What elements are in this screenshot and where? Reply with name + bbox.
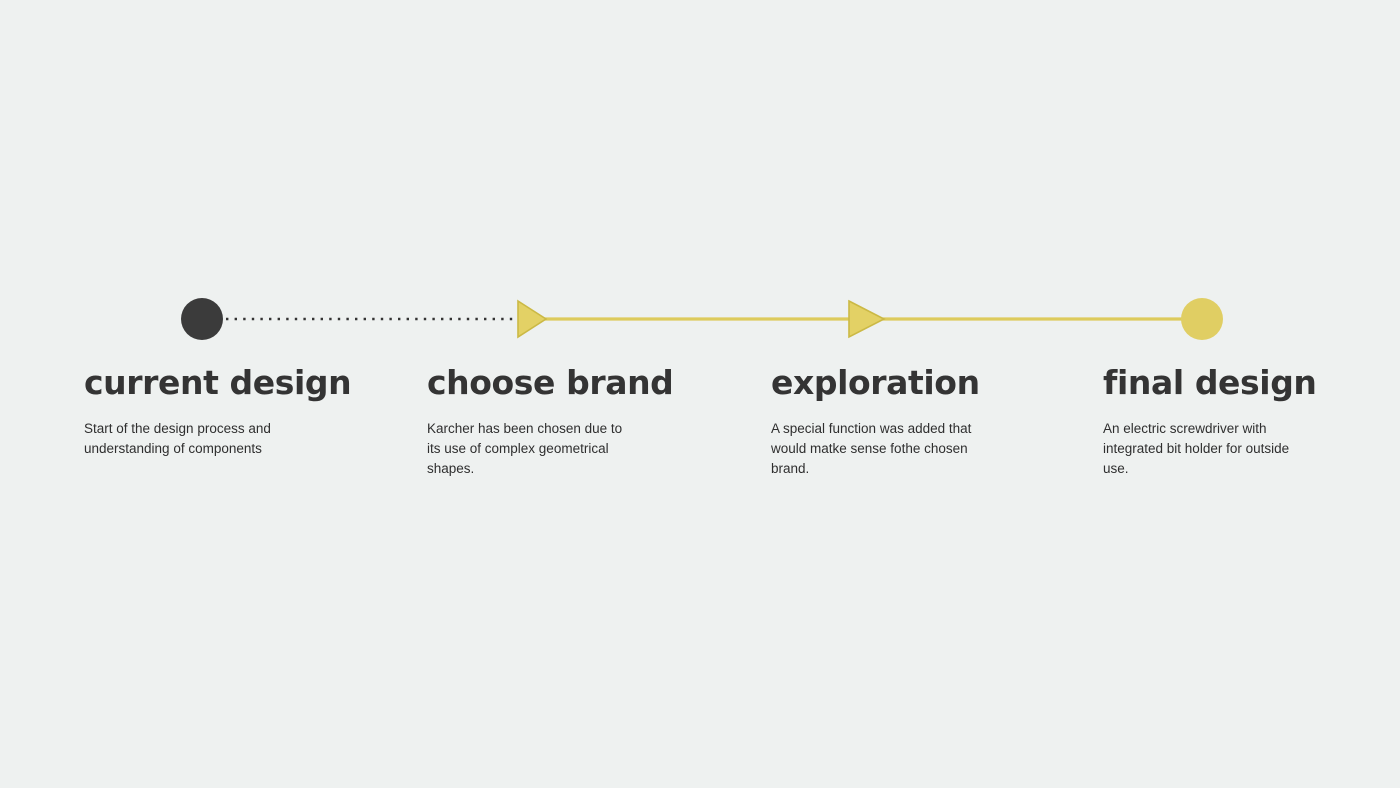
timeline-step-exploration: exploration A special function was added… [771, 365, 1071, 479]
step-description: A special function was added that would … [771, 419, 981, 479]
timeline-step-choose-brand: choose brand Karcher has been chosen due… [427, 365, 727, 479]
timeline-step-final-design: final design An electric screwdriver wit… [1103, 365, 1400, 479]
step-description: An electric screwdriver with integrated … [1103, 419, 1313, 479]
timeline-steps: current design Start of the design proce… [0, 0, 1400, 788]
step-description: Karcher has been chosen due to its use o… [427, 419, 637, 479]
step-title: choose brand [427, 365, 727, 401]
step-title: final design [1103, 365, 1400, 401]
step-title: exploration [771, 365, 1071, 401]
step-description: Start of the design process and understa… [84, 419, 294, 459]
diagram-canvas: current design Start of the design proce… [0, 0, 1400, 788]
step-title: current design [84, 365, 384, 401]
timeline-step-current-design: current design Start of the design proce… [84, 365, 384, 459]
